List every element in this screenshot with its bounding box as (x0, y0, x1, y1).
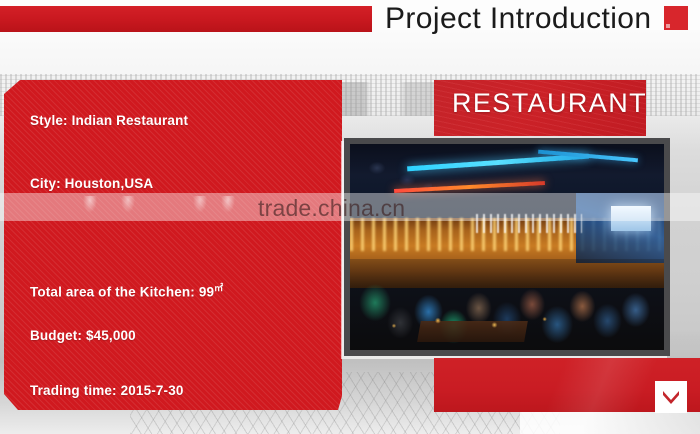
info-kitchen-area-unit: ㎡ (214, 283, 223, 293)
page-title: Project Introduction (385, 0, 660, 38)
photo-candle-lights (350, 309, 664, 338)
header-red-bar (0, 6, 372, 32)
info-kitchen-area: Total area of the Kitchen: 99㎡ (30, 281, 223, 300)
info-style: Style: Indian Restaurant (30, 113, 188, 128)
restaurant-photo-frame (344, 138, 670, 356)
photo-wall-screen (611, 206, 652, 231)
slide-canvas: Project Introduction Style: Indian Resta… (0, 0, 700, 434)
photo-hanging-glassware (476, 214, 583, 233)
restaurant-banner-title: RESTAURANT (452, 88, 647, 119)
project-info-panel: Style: Indian Restaurant City: Houston,U… (4, 80, 342, 410)
info-kitchen-area-text: Total area of the Kitchen: 99 (30, 285, 214, 300)
info-budget: Budget: $45,000 (30, 328, 136, 343)
chevron-down-button[interactable] (655, 381, 687, 413)
restaurant-interior-photo (350, 144, 664, 350)
chevron-down-icon (661, 389, 681, 405)
info-city: City: Houston,USA (30, 176, 153, 191)
header-accent-square (664, 6, 688, 30)
info-trading-time: Trading time: 2015-7-30 (30, 383, 184, 398)
panel-stripe-texture (4, 80, 342, 410)
